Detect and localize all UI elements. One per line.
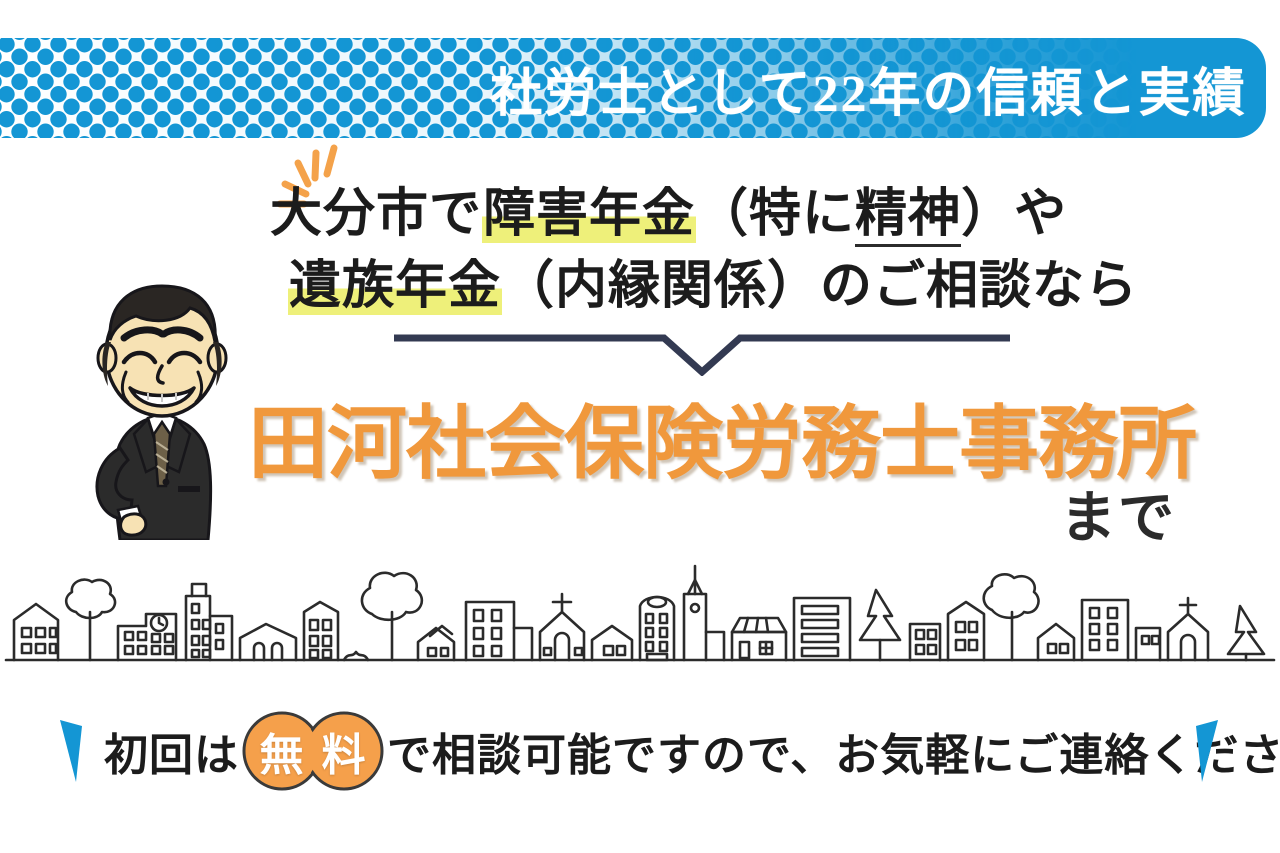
headline-l1-suffix: ）や <box>961 185 1067 243</box>
cityscape-illustration <box>0 528 1280 678</box>
divider-with-notch <box>392 330 1012 376</box>
headline-line-1: 大分市で障害年金（特に精神）や <box>270 178 1150 250</box>
tagline: 初回は 無 料 で相談可能ですので、お気軽にご連絡ください <box>0 708 1280 794</box>
headline-l1-mid: （特に <box>696 185 855 243</box>
headline-l2-highlight: 遺族年金 <box>288 257 502 315</box>
headline-line-2: 遺族年金（内縁関係）のご相談なら <box>270 250 1150 322</box>
headline: 大分市で障害年金（特に精神）や 遺族年金（内縁関係）のご相談なら <box>270 178 1150 322</box>
headline-l2-suffix: （内縁関係）のご相談なら <box>502 257 1138 315</box>
header-title: 社労士として22年の信頼と実績 <box>490 38 1250 138</box>
office-name: 田河社会保険労務士事務所 <box>248 396 1178 492</box>
banner-canvas: 社労士として22年の信頼と実績 大分市で障害年金（特に精神）や 遺族年金（内縁関… <box>0 0 1280 853</box>
free-badge: 無 料 <box>241 710 385 792</box>
tagline-suffix: で相談可能ですので、お気軽にご連絡ください <box>387 719 1280 783</box>
headline-l1-underline: 精神 <box>855 185 961 247</box>
tagline-text: 初回は 無 料 で相談可能ですので、お気軽にご連絡ください <box>104 708 1280 794</box>
headline-l1-highlight: 障害年金 <box>482 185 696 243</box>
slash-left-icon <box>56 716 96 786</box>
slash-right-icon <box>1182 716 1222 786</box>
tagline-prefix: 初回は <box>104 719 239 783</box>
avatar <box>62 272 262 540</box>
headline-l1-prefix: 大分市で <box>270 185 482 243</box>
free-badge-char-2: 料 <box>303 710 385 792</box>
